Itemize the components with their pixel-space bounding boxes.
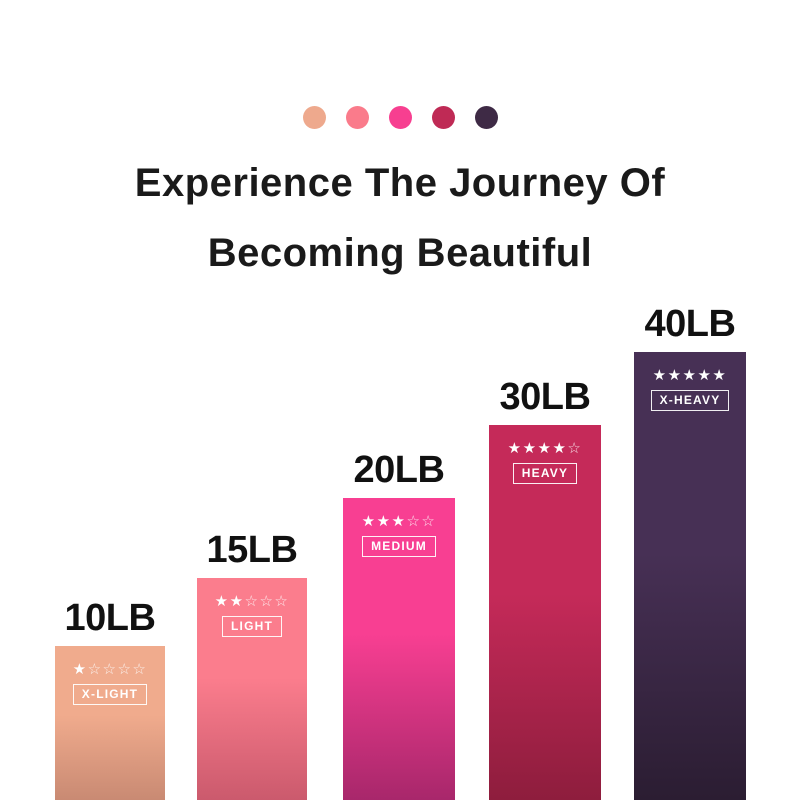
star-empty-icon: ☆ bbox=[259, 593, 274, 610]
star-filled-icon: ★ bbox=[230, 593, 245, 610]
bar-fill: ★☆☆☆☆X-LIGHT bbox=[55, 646, 165, 800]
star-rating: ★☆☆☆☆ bbox=[73, 662, 148, 677]
star-filled-icon: ★ bbox=[392, 513, 407, 530]
star-filled-icon: ★ bbox=[538, 440, 553, 457]
star-filled-icon: ★ bbox=[552, 440, 567, 457]
strength-badge: X-HEAVY bbox=[651, 390, 730, 411]
star-filled-icon: ★ bbox=[683, 367, 698, 384]
product-infographic: Experience The Journey Of Becoming Beaut… bbox=[0, 0, 800, 800]
star-filled-icon: ★ bbox=[697, 367, 712, 384]
star-empty-icon: ☆ bbox=[103, 661, 118, 678]
star-rating: ★★★☆☆ bbox=[362, 514, 437, 529]
bar-weight-label: 15LB bbox=[207, 529, 298, 572]
strength-badge: X-LIGHT bbox=[73, 684, 147, 705]
bar-group-15lb[interactable]: 15LB★★☆☆☆LIGHT bbox=[197, 578, 307, 800]
star-filled-icon: ★ bbox=[215, 593, 230, 610]
star-rating: ★★★★★ bbox=[653, 368, 728, 383]
star-filled-icon: ★ bbox=[508, 440, 523, 457]
bar-weight-label: 10LB bbox=[65, 597, 156, 640]
star-filled-icon: ★ bbox=[377, 513, 392, 530]
strength-badge: MEDIUM bbox=[362, 536, 436, 557]
bar-weight-label: 30LB bbox=[500, 376, 591, 419]
star-filled-icon: ★ bbox=[73, 661, 88, 678]
strength-badge: HEAVY bbox=[513, 463, 577, 484]
bar-group-30lb[interactable]: 30LB★★★★☆HEAVY bbox=[489, 425, 601, 800]
bar-group-10lb[interactable]: 10LB★☆☆☆☆X-LIGHT bbox=[55, 646, 165, 800]
star-empty-icon: ☆ bbox=[245, 593, 260, 610]
strength-badge: LIGHT bbox=[222, 616, 282, 637]
star-empty-icon: ☆ bbox=[274, 593, 289, 610]
star-empty-icon: ☆ bbox=[406, 513, 421, 530]
star-rating: ★★★★☆ bbox=[508, 441, 583, 456]
star-rating: ★★☆☆☆ bbox=[215, 594, 290, 609]
star-empty-icon: ☆ bbox=[421, 513, 436, 530]
bar-weight-label: 20LB bbox=[354, 449, 445, 492]
star-filled-icon: ★ bbox=[712, 367, 727, 384]
bar-group-40lb[interactable]: 40LB★★★★★X-HEAVY bbox=[634, 352, 746, 800]
star-empty-icon: ☆ bbox=[132, 661, 147, 678]
bar-group-20lb[interactable]: 20LB★★★☆☆MEDIUM bbox=[343, 498, 455, 800]
bar-fill: ★★★★☆HEAVY bbox=[489, 425, 601, 800]
star-filled-icon: ★ bbox=[668, 367, 683, 384]
bar-fill: ★★★☆☆MEDIUM bbox=[343, 498, 455, 800]
bar-fill: ★★★★★X-HEAVY bbox=[634, 352, 746, 800]
star-filled-icon: ★ bbox=[362, 513, 377, 530]
star-empty-icon: ☆ bbox=[88, 661, 103, 678]
star-filled-icon: ★ bbox=[653, 367, 668, 384]
bar-weight-label: 40LB bbox=[645, 303, 736, 346]
bar-fill: ★★☆☆☆LIGHT bbox=[197, 578, 307, 800]
star-empty-icon: ☆ bbox=[117, 661, 132, 678]
resistance-band-bar-chart: 10LB★☆☆☆☆X-LIGHT15LB★★☆☆☆LIGHT20LB★★★☆☆M… bbox=[0, 0, 800, 800]
star-filled-icon: ★ bbox=[523, 440, 538, 457]
star-empty-icon: ☆ bbox=[567, 440, 582, 457]
